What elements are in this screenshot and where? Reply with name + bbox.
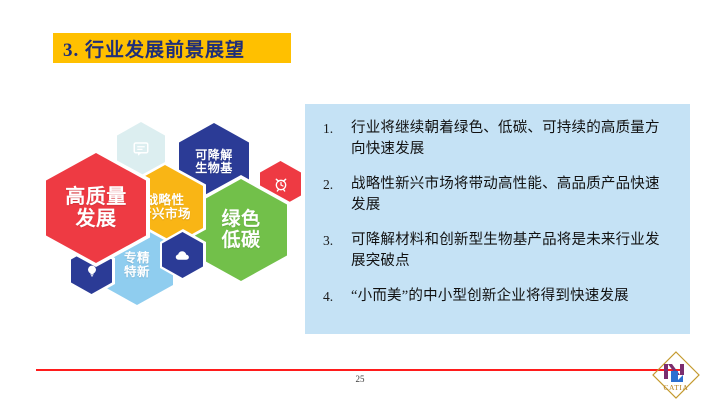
footer-divider <box>36 369 684 371</box>
hex-specialized-label: 专精 特新 <box>124 251 150 279</box>
hex-green-label: 绿色 低碳 <box>221 209 260 252</box>
bullet-text: “小而美”的中小型创新企业将得到快速发展 <box>351 286 674 307</box>
page-title: 3. 行业发展前景展望 <box>53 35 245 62</box>
bullet-number: 2. <box>319 174 351 195</box>
hex-quality-label: 高质量 发展 <box>65 186 127 231</box>
slide-title-banner: 3. 行业发展前景展望 <box>53 33 291 63</box>
hex-biobased-label: 可降解 生物基 <box>195 149 233 176</box>
hexagon-infographic: 可降解 生物基 绿色 低碳 战略性 新兴市场 <box>20 105 305 305</box>
bullet-number: 4. <box>319 286 351 307</box>
list-item: 4. “小而美”的中小型创新企业将得到快速发展 <box>319 286 674 307</box>
bullet-number: 3. <box>319 230 351 251</box>
svg-text:CATIA: CATIA <box>663 383 688 392</box>
list-item: 3. 可降解材料和创新型生物基产品将是未来行业发展突破点 <box>319 230 674 272</box>
cloud-icon <box>174 247 191 264</box>
bullet-list-panel: 1. 行业将继续朝着绿色、低碳、可持续的高质量方向快速发展 2. 战略性新兴市场… <box>305 104 690 334</box>
bullet-number: 1. <box>319 118 351 139</box>
alarm-clock-icon <box>273 176 289 192</box>
list-item: 1. 行业将继续朝着绿色、低碳、可持续的高质量方向快速发展 <box>319 118 674 160</box>
list-item: 2. 战略性新兴市场将带动高性能、高品质产品快速发展 <box>319 174 674 216</box>
bullet-text: 可降解材料和创新型生物基产品将是未来行业发展突破点 <box>351 230 674 272</box>
catia-logo: CATIA <box>650 349 702 401</box>
bullet-text: 行业将继续朝着绿色、低碳、可持续的高质量方向快速发展 <box>351 118 674 160</box>
bullet-text: 战略性新兴市场将带动高性能、高品质产品快速发展 <box>351 174 674 216</box>
page-number: 25 <box>0 374 720 384</box>
chat-bubble-icon <box>132 140 150 158</box>
